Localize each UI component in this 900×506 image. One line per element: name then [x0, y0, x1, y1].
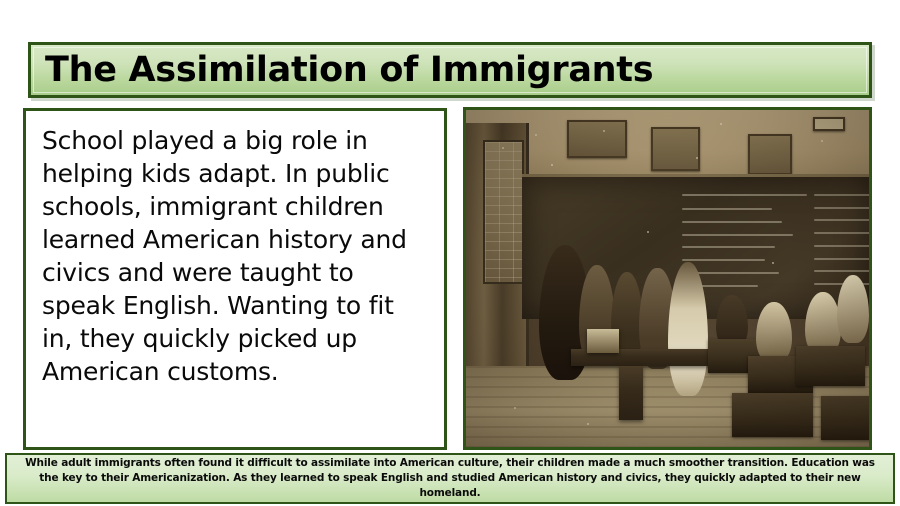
chalk-writing-line [814, 219, 872, 221]
wall-picture-frame-3 [748, 134, 792, 175]
chalk-writing-line [814, 207, 872, 209]
body-paragraph: School played a big role in helping kids… [42, 124, 428, 388]
door-window-panes [483, 140, 524, 284]
student-desk [821, 396, 872, 440]
chalk-writing-line [814, 194, 872, 196]
chalk-writing-line [682, 221, 783, 223]
wall-picture-frame-2 [651, 127, 699, 171]
chalk-writing-line [814, 232, 872, 234]
slide-title-banner: The Assimilation of Immigrants [28, 42, 872, 98]
photo-canvas [466, 110, 869, 447]
front-table-leg [619, 366, 643, 420]
model-house-on-table [587, 329, 619, 353]
chalk-writing-line [682, 194, 807, 196]
chalk-writing-line [682, 259, 765, 261]
wall-picture-frame-1 [567, 120, 627, 158]
classroom-photograph [463, 107, 872, 450]
chalk-writing-line [682, 234, 793, 236]
chalk-writing-line [814, 270, 872, 272]
seated-student [837, 275, 869, 342]
student-desk [796, 346, 865, 386]
wall-shelf-card [813, 117, 845, 131]
caption-text: While adult immigrants often found it di… [15, 456, 885, 502]
page-title: The Assimilation of Immigrants [31, 53, 653, 88]
body-text-box: School played a big role in helping kids… [23, 108, 447, 450]
chalk-writing-line [682, 208, 772, 210]
photo-speck [535, 134, 537, 136]
photo-speck [551, 164, 553, 166]
caption-bar: While adult immigrants often found it di… [5, 453, 895, 504]
chalk-writing-line [814, 258, 872, 260]
chalk-writing-line [682, 246, 776, 248]
classroom-door [466, 123, 529, 393]
chalk-writing-line [814, 245, 872, 247]
photo-speck [696, 157, 698, 159]
student-desk [732, 393, 813, 437]
